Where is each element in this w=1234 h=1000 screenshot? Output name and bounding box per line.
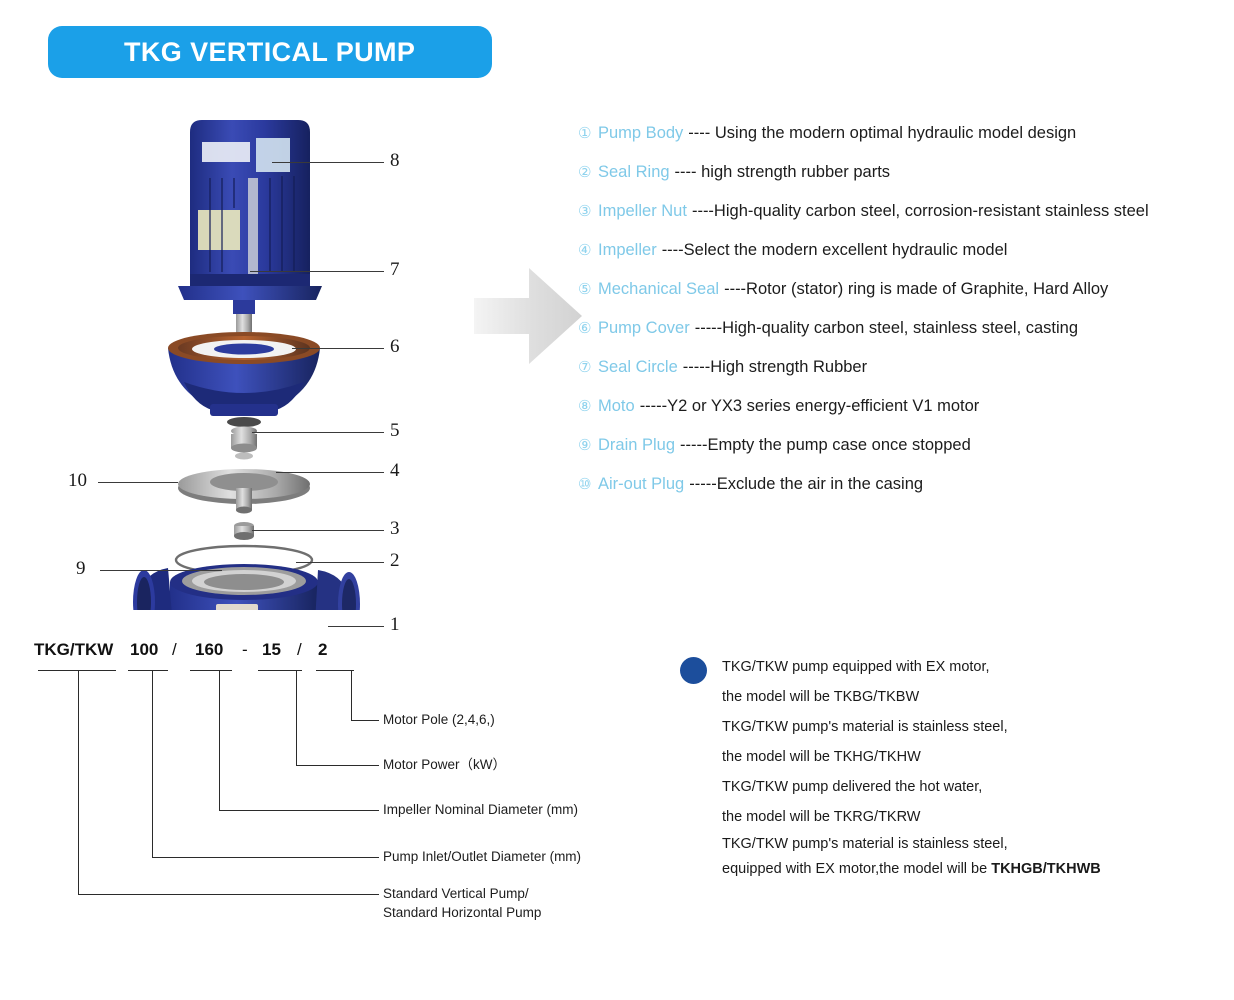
parts-legend-list: ① Pump Body ---- Using the modern optima…: [578, 124, 1228, 514]
callout-line-2: [296, 562, 384, 563]
pump-cover-part: [168, 332, 320, 416]
code-underline-series: [38, 670, 116, 671]
code-label-series-line1: Standard Vertical Pump/: [383, 885, 529, 903]
callout-number-8: 8: [390, 150, 400, 172]
flow-arrow: [474, 262, 584, 370]
legend-item-5: ⑤ Mechanical Seal ----Rotor (stator) rin…: [578, 280, 1228, 319]
code-label-series-line2: Standard Horizontal Pump: [383, 904, 541, 922]
legend-marker-icon-8: ⑧: [578, 397, 598, 415]
bracket-h-power: [296, 765, 379, 766]
code-token-inlet: 100: [130, 640, 158, 660]
flow-arrow-icon: [474, 262, 584, 370]
code-label-power: Motor Power（kW）: [383, 756, 506, 774]
code-token-pole: 2: [318, 640, 327, 660]
callout-line-5: [252, 432, 384, 433]
code-label-impeller: Impeller Nominal Diameter (mm): [383, 801, 578, 819]
legend-item-9: ⑨ Drain Plug -----Empty the pump case on…: [578, 436, 1228, 475]
legend-marker-icon-4: ④: [578, 241, 598, 259]
code-separator-2: -: [242, 640, 248, 660]
legend-part-name-7: Seal Circle: [598, 358, 678, 377]
code-token-impeller: 160: [195, 640, 223, 660]
bracket-h-inlet: [152, 857, 379, 858]
legend-description-7: -----High strength Rubber: [683, 358, 867, 377]
callout-number-7: 7: [390, 259, 400, 281]
callout-number-2: 2: [390, 550, 400, 572]
legend-part-name-2: Seal Ring: [598, 163, 670, 182]
legend-description-2: ---- high strength rubber parts: [675, 163, 891, 182]
legend-item-8: ⑧ Moto -----Y2 or YX3 series energy-effi…: [578, 397, 1228, 436]
impeller-nut-part: [234, 522, 254, 540]
legend-part-name-4: Impeller: [598, 241, 657, 260]
callout-number-9: 9: [76, 558, 86, 580]
code-separator-1: /: [172, 640, 177, 660]
legend-item-7: ⑦ Seal Circle -----High strength Rubber: [578, 358, 1228, 397]
code-label-inlet: Pump Inlet/Outlet Diameter (mm): [383, 848, 581, 866]
pump-illustration: [60, 90, 480, 610]
legend-description-3: ----High-quality carbon steel, corrosion…: [692, 202, 1149, 221]
note-line-8-prefix: equipped with EX motor,the model will be: [722, 861, 991, 877]
bracket-v-series: [78, 670, 79, 894]
legend-part-name-3: Impeller Nut: [598, 202, 687, 221]
legend-marker-icon-9: ⑨: [578, 436, 598, 454]
code-separator-3: /: [297, 640, 302, 660]
legend-marker-icon-2: ②: [578, 163, 598, 181]
note-line-1: TKG/TKW pump equipped with EX motor,: [722, 652, 1225, 682]
callout-number-6: 6: [390, 336, 400, 358]
legend-description-6: -----High-quality carbon steel, stainles…: [695, 319, 1078, 338]
motor-part: [178, 120, 322, 300]
note-line-8: equipped with EX motor,the model will be…: [722, 857, 1225, 882]
bracket-v-impeller: [219, 670, 220, 810]
legend-part-name-8: Moto: [598, 397, 635, 416]
note-line-4: the model will be TKHG/TKHW: [722, 742, 1225, 772]
note-line-7: TKG/TKW pump's material is stainless ste…: [722, 832, 1225, 857]
code-underline-pole: [316, 670, 354, 671]
note-line-8-model: TKHGB/TKHWB: [991, 861, 1101, 877]
bracket-v-power: [296, 670, 297, 765]
legend-marker-icon-1: ①: [578, 124, 598, 142]
legend-marker-icon-6: ⑥: [578, 319, 598, 337]
note-line-3: TKG/TKW pump's material is stainless ste…: [722, 712, 1225, 742]
model-variant-notes: TKG/TKW pump equipped with EX motor, the…: [680, 652, 1225, 882]
legend-item-4: ④ Impeller ----Select the modern excelle…: [578, 241, 1228, 280]
callout-number-4: 4: [390, 460, 400, 482]
legend-description-5: ----Rotor (stator) ring is made of Graph…: [724, 280, 1108, 299]
note-line-6: the model will be TKRG/TKRW: [722, 802, 1225, 832]
legend-marker-icon-10: ⑩: [578, 475, 598, 493]
code-token-power: 15: [262, 640, 281, 660]
model-code-breakdown: TKG/TKW 100 / 160 - 15 / 2 Motor Pole (2…: [20, 630, 640, 960]
bracket-v-inlet: [152, 670, 153, 857]
legend-description-8: -----Y2 or YX3 series energy-efficient V…: [640, 397, 980, 416]
legend-marker-icon-3: ③: [578, 202, 598, 220]
legend-part-name-6: Pump Cover: [598, 319, 690, 338]
bracket-h-pole: [351, 720, 379, 721]
callout-line-1: [328, 626, 384, 627]
bracket-h-impeller: [219, 810, 379, 811]
callout-line-4: [276, 472, 384, 473]
mechanical-seal-part: [227, 417, 261, 460]
callout-line-10: [98, 482, 178, 483]
legend-item-3: ③ Impeller Nut ----High-quality carbon s…: [578, 202, 1228, 241]
legend-part-name-10: Air-out Plug: [598, 475, 684, 494]
legend-part-name-1: Pump Body: [598, 124, 683, 143]
callout-line-7: [250, 271, 384, 272]
pump-exploded-figure: 8 7 6 5 4 3 2 1 10 9: [60, 90, 480, 610]
bullet-dot-icon: [680, 657, 707, 684]
legend-item-2: ② Seal Ring ---- high strength rubber pa…: [578, 163, 1228, 202]
legend-description-10: -----Exclude the air in the casing: [689, 475, 923, 494]
code-label-pole: Motor Pole (2,4,6,): [383, 711, 495, 729]
callout-number-3: 3: [390, 518, 400, 540]
code-underline-inlet: [128, 670, 168, 671]
legend-part-name-9: Drain Plug: [598, 436, 675, 455]
bracket-h-series: [78, 894, 379, 895]
legend-description-4: ----Select the modern excellent hydrauli…: [662, 241, 1008, 260]
poster-canvas: TKG VERTICAL PUMP: [0, 0, 1234, 1000]
impeller-part: [178, 469, 310, 514]
page-title: TKG VERTICAL PUMP: [124, 37, 415, 68]
legend-description-1: ---- Using the modern optimal hydraulic …: [688, 124, 1076, 143]
legend-item-6: ⑥ Pump Cover -----High-quality carbon st…: [578, 319, 1228, 358]
note-line-5: TKG/TKW pump delivered the hot water,: [722, 772, 1225, 802]
legend-part-name-5: Mechanical Seal: [598, 280, 719, 299]
callout-line-6: [292, 348, 384, 349]
legend-item-10: ⑩ Air-out Plug -----Exclude the air in t…: [578, 475, 1228, 514]
callout-line-8: [272, 162, 384, 163]
callout-number-10: 10: [68, 470, 87, 492]
callout-line-9: [100, 570, 222, 571]
code-underline-impeller: [190, 670, 232, 671]
legend-description-9: -----Empty the pump case once stopped: [680, 436, 971, 455]
callout-line-3: [252, 530, 384, 531]
note-line-2: the model will be TKBG/TKBW: [722, 682, 1225, 712]
callout-number-5: 5: [390, 420, 400, 442]
legend-marker-icon-7: ⑦: [578, 358, 598, 376]
legend-item-1: ① Pump Body ---- Using the modern optima…: [578, 124, 1228, 163]
code-token-series: TKG/TKW: [34, 640, 113, 660]
title-banner: TKG VERTICAL PUMP: [48, 26, 492, 78]
legend-marker-icon-5: ⑤: [578, 280, 598, 298]
bracket-v-pole: [351, 670, 352, 720]
